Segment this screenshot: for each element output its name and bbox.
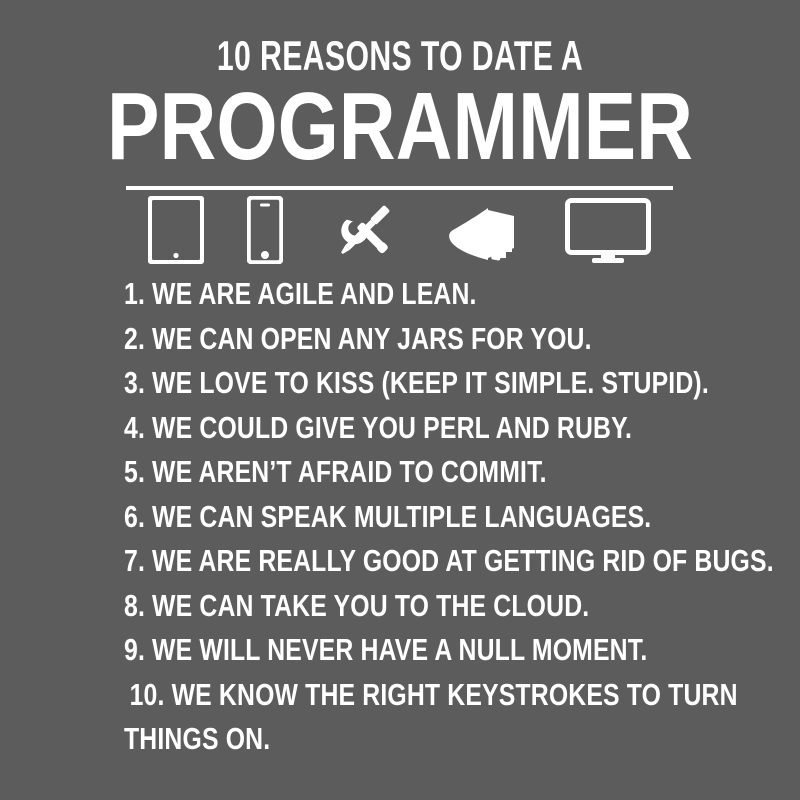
icon-slot-megaphone xyxy=(444,204,522,264)
list-item-continuation: THINGS ON. xyxy=(124,717,620,762)
list-item: 2. WE CAN OPEN ANY JARS FOR YOU. xyxy=(124,317,620,362)
poster-header: 10 REASONS TO DATE A PROGRAMMER xyxy=(0,0,800,173)
list-item: 4. WE COULD GIVE YOU PERL AND RUBY. xyxy=(124,406,620,451)
reasons-list: 1. WE ARE AGILE AND LEAN. 2. WE CAN OPEN… xyxy=(124,272,744,762)
list-item: 1. WE ARE AGILE AND LEAN. xyxy=(124,272,620,317)
poster-canvas: 10 REASONS TO DATE A PROGRAMMER xyxy=(0,0,800,800)
list-item: 9. WE WILL NEVER HAVE A NULL MOMENT. xyxy=(124,628,620,673)
list-item: 8. WE CAN TAKE YOU TO THE CLOUD. xyxy=(124,584,620,629)
wrench-screwdriver-icon xyxy=(326,196,402,264)
list-item: 5. WE AREN’T AFRAID TO COMMIT. xyxy=(124,450,620,495)
tablet-icon xyxy=(148,196,204,264)
smartphone-icon xyxy=(247,196,283,264)
list-item: 6. WE CAN SPEAK MULTIPLE LANGUAGES. xyxy=(124,495,620,540)
list-item: 3. WE LOVE TO KISS (KEEP IT SIMPLE. STUP… xyxy=(124,361,620,406)
megaphone-icon xyxy=(444,204,522,264)
icon-slot-tools xyxy=(326,196,402,264)
icon-slot-smartphone xyxy=(247,196,283,264)
list-item: 10. WE KNOW THE RIGHT KEYSTROKES TO TURN xyxy=(124,673,620,718)
list-item: 7. WE ARE REALLY GOOD AT GETTING RID OF … xyxy=(124,539,620,584)
icon-row xyxy=(126,194,673,264)
icon-slot-monitor xyxy=(565,198,651,264)
header-divider-rule xyxy=(126,186,673,190)
desktop-monitor-icon xyxy=(565,198,651,264)
page-title: PROGRAMMER xyxy=(72,81,728,173)
icon-slot-tablet xyxy=(148,196,204,264)
